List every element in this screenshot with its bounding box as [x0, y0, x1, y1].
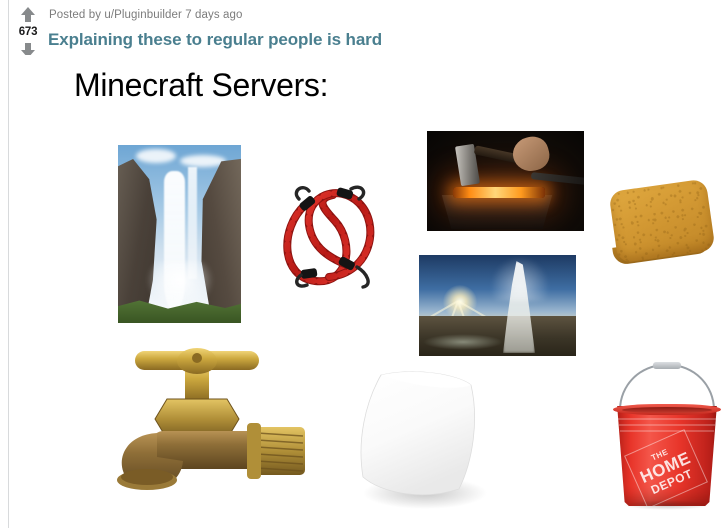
- geyser-wet-rock: [423, 334, 503, 350]
- page-left-border: [0, 0, 9, 528]
- arrow-up-icon[interactable]: [20, 6, 36, 23]
- image-paper-sheet: [339, 365, 499, 523]
- bucket-ridge: [618, 418, 716, 420]
- vote-count: 673: [19, 26, 38, 39]
- post-meta: Posted by u/Pluginbuilder 7 days ago: [49, 9, 242, 21]
- image-home-depot-bucket: THE HOME DEPOT: [605, 362, 728, 508]
- bucket-shadow: [623, 500, 711, 510]
- post-title[interactable]: Explaining these to regular people is ha…: [48, 30, 382, 50]
- image-geyser: [419, 255, 576, 356]
- meme-image[interactable]: Minecraft Servers:: [9, 55, 728, 528]
- bucket-ridge: [619, 424, 715, 426]
- image-waterfall: [118, 145, 241, 323]
- meme-heading: Minecraft Servers:: [74, 67, 328, 104]
- image-sponge: [609, 167, 715, 271]
- waterfall-mist: [146, 261, 214, 309]
- post-page: 673 Posted by u/Pluginbuilder 7 days ago…: [0, 0, 728, 528]
- image-bungee-cords: [275, 181, 387, 289]
- forge-hot-metal: [453, 187, 545, 198]
- waterfall-cloud: [180, 155, 226, 167]
- bucket-rim-inner: [622, 407, 712, 413]
- bucket-ridge: [620, 430, 714, 432]
- waterfall-cloud: [136, 149, 176, 163]
- geyser-spray: [491, 257, 549, 301]
- vote-column: 673: [9, 6, 47, 59]
- image-blacksmith-anvil: [427, 131, 584, 231]
- forge-anvil: [437, 195, 557, 229]
- bucket-handle-grip: [653, 362, 681, 369]
- sponge-body: [608, 179, 715, 264]
- sponge-texture: [608, 179, 715, 264]
- image-brass-faucet: [105, 337, 317, 492]
